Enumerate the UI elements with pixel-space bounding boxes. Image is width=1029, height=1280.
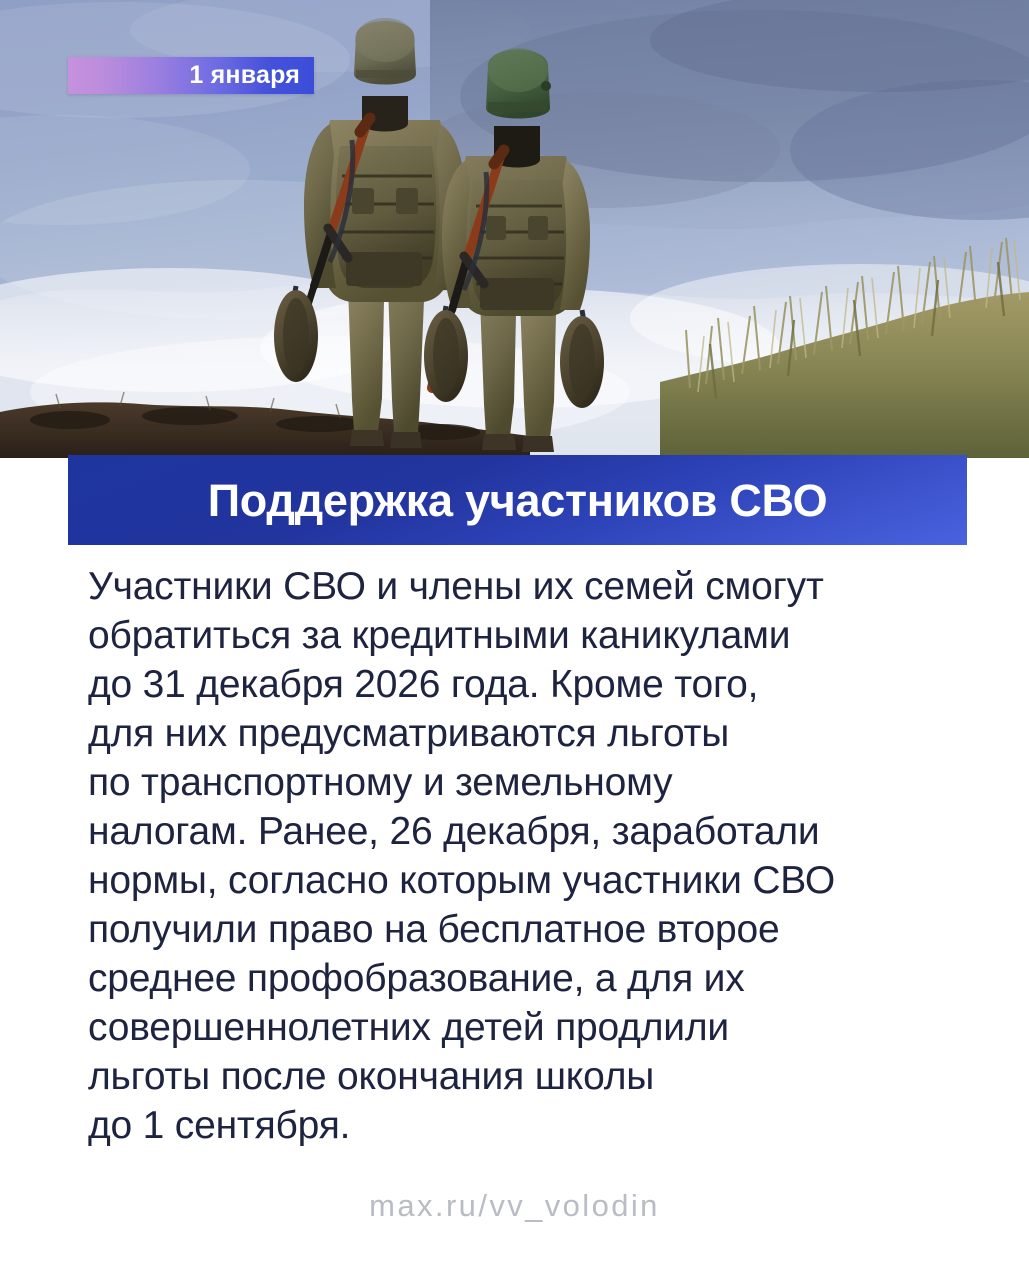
body-text: Участники СВО и члены их семей смогут об…: [88, 562, 968, 1150]
body-line: Участники СВО и члены их семей смогут: [88, 562, 968, 611]
date-badge: 1 января: [68, 57, 314, 94]
body-line: до 31 декабря 2026 года. Кроме того,: [88, 660, 968, 709]
body-line: до 1 сентября.: [88, 1101, 968, 1150]
body-line: обратиться за кредитными каникулами: [88, 611, 968, 660]
date-badge-label: 1 января: [189, 63, 300, 88]
page-title: Поддержка участников СВО: [208, 478, 828, 523]
body-line: совершеннолетних детей продлили: [88, 1003, 968, 1052]
body-line: льготы после окончания школы: [88, 1052, 968, 1101]
body-line: налогам. Ранее, 26 декабря, заработали: [88, 807, 968, 856]
info-card: 1 января Поддержка участников СВО Участн…: [0, 0, 1029, 1280]
body-line: среднее профобразование, а для их: [88, 954, 968, 1003]
watermark-link[interactable]: max.ru/vv_volodin: [369, 1188, 660, 1223]
body-line: получили право на бесплатное второе: [88, 905, 968, 954]
footer: max.ru/vv_volodin: [0, 1188, 1029, 1224]
body-line: нормы, согласно которым участники СВО: [88, 856, 968, 905]
title-banner: Поддержка участников СВО: [68, 455, 967, 545]
body-line: по транспортному и земельному: [88, 758, 968, 807]
body-line: для них предусматриваются льготы: [88, 709, 968, 758]
